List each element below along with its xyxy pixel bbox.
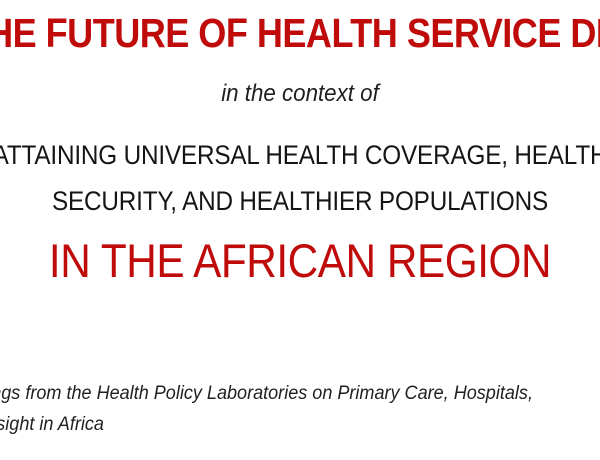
region-heading: IN THE AFRICAN REGION [0,232,600,290]
footer-line-2: and Oversight in Africa [0,409,600,440]
slide-title: THE FUTURE OF HEALTH SERVICE DELIVERY [0,8,600,58]
footer-line-1: Key findings from the Health Policy Labo… [0,378,600,409]
slide-title-block: THE FUTURE OF HEALTH SERVICE DELIVERY [0,8,600,58]
slide-subtitle-block: ATTAINING UNIVERSAL HEALTH COVERAGE, HEA… [0,132,600,224]
presentation-slide: THE FUTURE OF HEALTH SERVICE DELIVERY in… [0,0,600,460]
slide-footer-block: Key findings from the Health Policy Labo… [0,378,600,440]
subtitle-line-1: ATTAINING UNIVERSAL HEALTH COVERAGE, HEA… [0,132,600,178]
context-label: in the context of [0,78,600,110]
subtitle-line-2: SECURITY, AND HEALTHIER POPULATIONS [0,178,600,224]
